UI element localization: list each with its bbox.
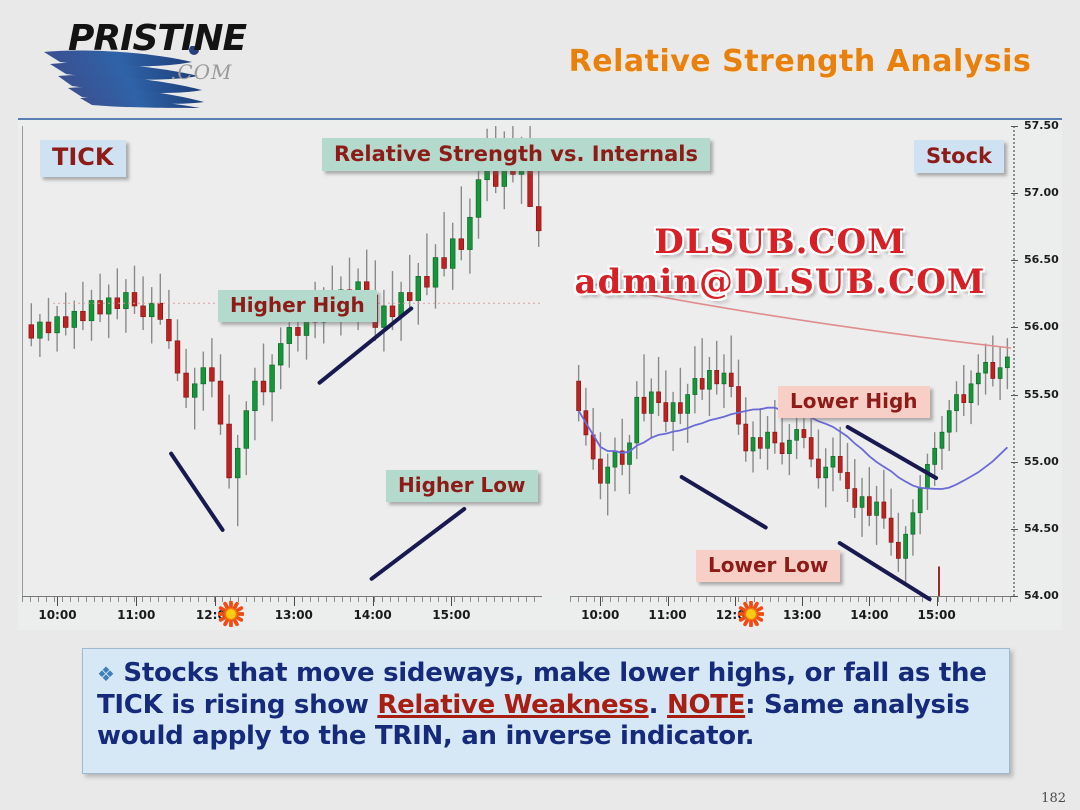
note-highlight-note: NOTE bbox=[667, 690, 745, 720]
x-axis-minor-tick bbox=[118, 597, 119, 602]
x-axis-minor-tick bbox=[190, 597, 191, 602]
callout-lower-high: Lower High bbox=[778, 386, 930, 418]
x-axis-minor-tick bbox=[494, 597, 495, 602]
x-axis-minor-tick bbox=[358, 597, 359, 602]
x-axis-minor-tick bbox=[690, 597, 691, 602]
x-axis-minor-tick bbox=[174, 597, 175, 602]
x-axis-tick-label: 14:00 bbox=[850, 608, 888, 622]
x-axis-minor-tick bbox=[722, 597, 723, 602]
x-axis-minor-tick bbox=[286, 597, 287, 602]
x-axis-minor-tick bbox=[842, 597, 843, 602]
x-axis-minor-tick bbox=[586, 597, 587, 602]
x-axis-minor-tick bbox=[578, 597, 579, 602]
x-axis-minor-tick bbox=[158, 597, 159, 602]
x-axis-minor-tick bbox=[626, 597, 627, 602]
x-axis-minor-tick bbox=[470, 597, 471, 602]
x-axis-tick-label: 15:00 bbox=[918, 608, 956, 622]
x-axis-minor-tick bbox=[786, 597, 787, 602]
x-axis-minor-tick bbox=[850, 597, 851, 602]
x-axis-minor-tick bbox=[826, 597, 827, 602]
x-axis-minor-tick bbox=[906, 597, 907, 602]
x-axis-minor-tick bbox=[318, 597, 319, 602]
x-axis-minor-tick bbox=[674, 597, 675, 602]
x-axis-minor-tick bbox=[978, 597, 979, 602]
x-axis-minor-tick bbox=[682, 597, 683, 602]
y-axis-tick bbox=[1011, 260, 1018, 261]
candlestick-canvas bbox=[23, 126, 1015, 596]
x-axis-minor-tick bbox=[198, 597, 199, 602]
sun-icon bbox=[738, 601, 764, 627]
callout-higher-high: Higher High bbox=[218, 290, 377, 322]
x-axis-minor-tick bbox=[262, 597, 263, 602]
x-axis-tick-label: 10:00 bbox=[38, 608, 76, 622]
x-axis-minor-tick bbox=[706, 597, 707, 602]
x-axis-minor-tick bbox=[278, 597, 279, 602]
x-axis-minor-tick bbox=[86, 597, 87, 602]
x-axis-minor-tick bbox=[698, 597, 699, 602]
x-axis-major-tick bbox=[735, 597, 736, 606]
x-axis-minor-tick bbox=[430, 597, 431, 602]
y-axis-tick-label: 57.00 bbox=[1024, 186, 1059, 199]
x-axis-minor-tick bbox=[254, 597, 255, 602]
x-axis-minor-tick bbox=[150, 597, 151, 602]
x-axis-minor-tick bbox=[38, 597, 39, 602]
y-axis-tick-label: 54.00 bbox=[1024, 589, 1059, 602]
x-axis-minor-tick bbox=[634, 597, 635, 602]
x-axis-minor-tick bbox=[818, 597, 819, 602]
x-axis-minor-tick bbox=[778, 597, 779, 602]
x-axis-minor-tick bbox=[618, 597, 619, 602]
chart-heading-label: Relative Strength vs. Internals bbox=[322, 138, 710, 171]
x-axis-minor-tick bbox=[898, 597, 899, 602]
x-axis-minor-tick bbox=[994, 597, 995, 602]
x-axis-minor-tick bbox=[518, 597, 519, 602]
x-axis-minor-tick bbox=[126, 597, 127, 602]
x-axis-minor-tick bbox=[890, 597, 891, 602]
y-axis-tick bbox=[1011, 596, 1018, 597]
chart-plot-area bbox=[22, 126, 1014, 596]
y-axis-tick bbox=[1011, 327, 1018, 328]
logo-wordmark: PRISTINE bbox=[68, 18, 246, 59]
x-axis-major-tick bbox=[668, 597, 669, 606]
chart-frame: 57.5057.0056.5056.0055.5055.0054.5054.00… bbox=[18, 118, 1062, 630]
x-axis-minor-tick bbox=[46, 597, 47, 602]
x-axis-minor-tick bbox=[62, 597, 63, 602]
x-axis-minor-tick bbox=[874, 597, 875, 602]
x-axis-minor-tick bbox=[834, 597, 835, 602]
sun-icon bbox=[218, 601, 244, 627]
x-axis-tick-label: 14:00 bbox=[353, 608, 391, 622]
x-axis-minor-tick bbox=[310, 597, 311, 602]
x-axis-major-tick bbox=[802, 597, 803, 606]
x-axis-minor-tick bbox=[810, 597, 811, 602]
x-axis-major-tick bbox=[136, 597, 137, 606]
x-axis-major-tick bbox=[294, 597, 295, 606]
x-axis-minor-tick bbox=[398, 597, 399, 602]
x-axis-minor-tick bbox=[882, 597, 883, 602]
x-axis-tick-label: 13:00 bbox=[275, 608, 313, 622]
y-axis-tick bbox=[1011, 395, 1018, 396]
x-axis-minor-tick bbox=[22, 597, 23, 602]
x-axis-minor-tick bbox=[486, 597, 487, 602]
x-axis-minor-tick bbox=[954, 597, 955, 602]
x-axis-minor-tick bbox=[946, 597, 947, 602]
x-axis-minor-tick bbox=[1010, 597, 1011, 602]
callout-lower-low: Lower Low bbox=[696, 550, 840, 582]
x-axis-minor-tick bbox=[454, 597, 455, 602]
x-axis-minor-tick bbox=[366, 597, 367, 602]
x-axis-minor-tick bbox=[102, 597, 103, 602]
x-axis-minor-tick bbox=[142, 597, 143, 602]
x-axis-minor-tick bbox=[914, 597, 915, 602]
x-axis-major-tick bbox=[451, 597, 452, 606]
x-axis-minor-tick bbox=[334, 597, 335, 602]
note-part-2: . bbox=[649, 690, 667, 720]
x-axis-minor-tick bbox=[534, 597, 535, 602]
y-axis-tick bbox=[1011, 529, 1018, 530]
x-axis-minor-tick bbox=[526, 597, 527, 602]
x-axis-minor-tick bbox=[478, 597, 479, 602]
y-axis-tick-label: 57.50 bbox=[1024, 119, 1059, 132]
x-axis-minor-tick bbox=[438, 597, 439, 602]
x-axis-minor-tick bbox=[54, 597, 55, 602]
x-axis-minor-tick bbox=[342, 597, 343, 602]
x-axis-minor-tick bbox=[594, 597, 595, 602]
x-axis-minor-tick bbox=[866, 597, 867, 602]
note-highlight-relative-weakness: Relative Weakness bbox=[377, 690, 648, 720]
x-axis-minor-tick bbox=[642, 597, 643, 602]
y-axis-tick-label: 54.50 bbox=[1024, 522, 1059, 535]
x-axis-minor-tick bbox=[78, 597, 79, 602]
x-axis-minor-tick bbox=[422, 597, 423, 602]
x-axis-major-tick bbox=[600, 597, 601, 606]
x-axis-minor-tick bbox=[206, 597, 207, 602]
x-axis-minor-tick bbox=[858, 597, 859, 602]
x-axis-minor-tick bbox=[462, 597, 463, 602]
note-box: ❖ Stocks that move sideways, make lower … bbox=[82, 648, 1010, 774]
slide-header: PRISTINE .COM Relative Strength Analysis bbox=[0, 0, 1080, 112]
x-axis-minor-tick bbox=[962, 597, 963, 602]
y-axis-tick bbox=[1011, 462, 1018, 463]
x-axis-left bbox=[22, 596, 542, 608]
y-axis-tick-label: 56.50 bbox=[1024, 253, 1059, 266]
x-axis-right bbox=[570, 596, 1014, 608]
x-axis-minor-tick bbox=[70, 597, 71, 602]
panel-label-tick: TICK bbox=[40, 140, 126, 177]
x-axis-minor-tick bbox=[770, 597, 771, 602]
x-axis-minor-tick bbox=[1002, 597, 1003, 602]
x-axis-minor-tick bbox=[382, 597, 383, 602]
note-bullet-icon: ❖ bbox=[97, 662, 115, 686]
x-axis-major-tick bbox=[215, 597, 216, 606]
pristine-logo: PRISTINE .COM bbox=[42, 12, 272, 102]
x-axis-minor-tick bbox=[134, 597, 135, 602]
x-axis-minor-tick bbox=[602, 597, 603, 602]
x-axis-major-tick bbox=[373, 597, 374, 606]
page-number: 182 bbox=[1041, 791, 1066, 806]
x-axis-tick-label: 11:00 bbox=[648, 608, 686, 622]
x-axis-tick-label: 11:00 bbox=[117, 608, 155, 622]
x-axis-minor-tick bbox=[570, 597, 571, 602]
page-title: Relative Strength Analysis bbox=[540, 44, 1060, 79]
x-axis-minor-tick bbox=[446, 597, 447, 602]
x-axis-minor-tick bbox=[650, 597, 651, 602]
logo-domain-suffix: .COM bbox=[170, 60, 233, 84]
x-axis-minor-tick bbox=[182, 597, 183, 602]
x-axis-minor-tick bbox=[374, 597, 375, 602]
x-axis-minor-tick bbox=[794, 597, 795, 602]
y-axis-tick-label: 55.50 bbox=[1024, 388, 1059, 401]
x-axis-minor-tick bbox=[326, 597, 327, 602]
x-axis-major-tick bbox=[937, 597, 938, 606]
x-axis-minor-tick bbox=[166, 597, 167, 602]
x-axis-minor-tick bbox=[110, 597, 111, 602]
y-axis-tick bbox=[1011, 193, 1018, 194]
x-axis-minor-tick bbox=[302, 597, 303, 602]
x-axis-minor-tick bbox=[246, 597, 247, 602]
x-axis-minor-tick bbox=[94, 597, 95, 602]
y-axis-tick-label: 55.00 bbox=[1024, 455, 1059, 468]
x-axis-minor-tick bbox=[610, 597, 611, 602]
x-axis-minor-tick bbox=[414, 597, 415, 602]
x-axis-tick-label: 13:00 bbox=[783, 608, 821, 622]
x-axis-minor-tick bbox=[390, 597, 391, 602]
x-axis-minor-tick bbox=[970, 597, 971, 602]
x-axis-minor-tick bbox=[502, 597, 503, 602]
note-text: ❖ Stocks that move sideways, make lower … bbox=[97, 658, 993, 753]
x-axis-minor-tick bbox=[730, 597, 731, 602]
y-axis-tick bbox=[1011, 126, 1018, 127]
x-axis-tick-label: 10:00 bbox=[581, 608, 619, 622]
x-axis-minor-tick bbox=[986, 597, 987, 602]
x-axis-tick-label: 15:00 bbox=[432, 608, 470, 622]
callout-higher-low: Higher Low bbox=[386, 470, 538, 502]
x-axis-minor-tick bbox=[658, 597, 659, 602]
y-axis-tick-label: 56.00 bbox=[1024, 320, 1059, 333]
x-axis-minor-tick bbox=[714, 597, 715, 602]
x-axis-minor-tick bbox=[406, 597, 407, 602]
x-axis-minor-tick bbox=[510, 597, 511, 602]
x-axis-major-tick bbox=[869, 597, 870, 606]
x-axis-minor-tick bbox=[270, 597, 271, 602]
x-axis-major-tick bbox=[57, 597, 58, 606]
x-axis-minor-tick bbox=[350, 597, 351, 602]
x-axis-minor-tick bbox=[30, 597, 31, 602]
x-axis-minor-tick bbox=[938, 597, 939, 602]
panel-label-stock: Stock bbox=[914, 140, 1004, 173]
